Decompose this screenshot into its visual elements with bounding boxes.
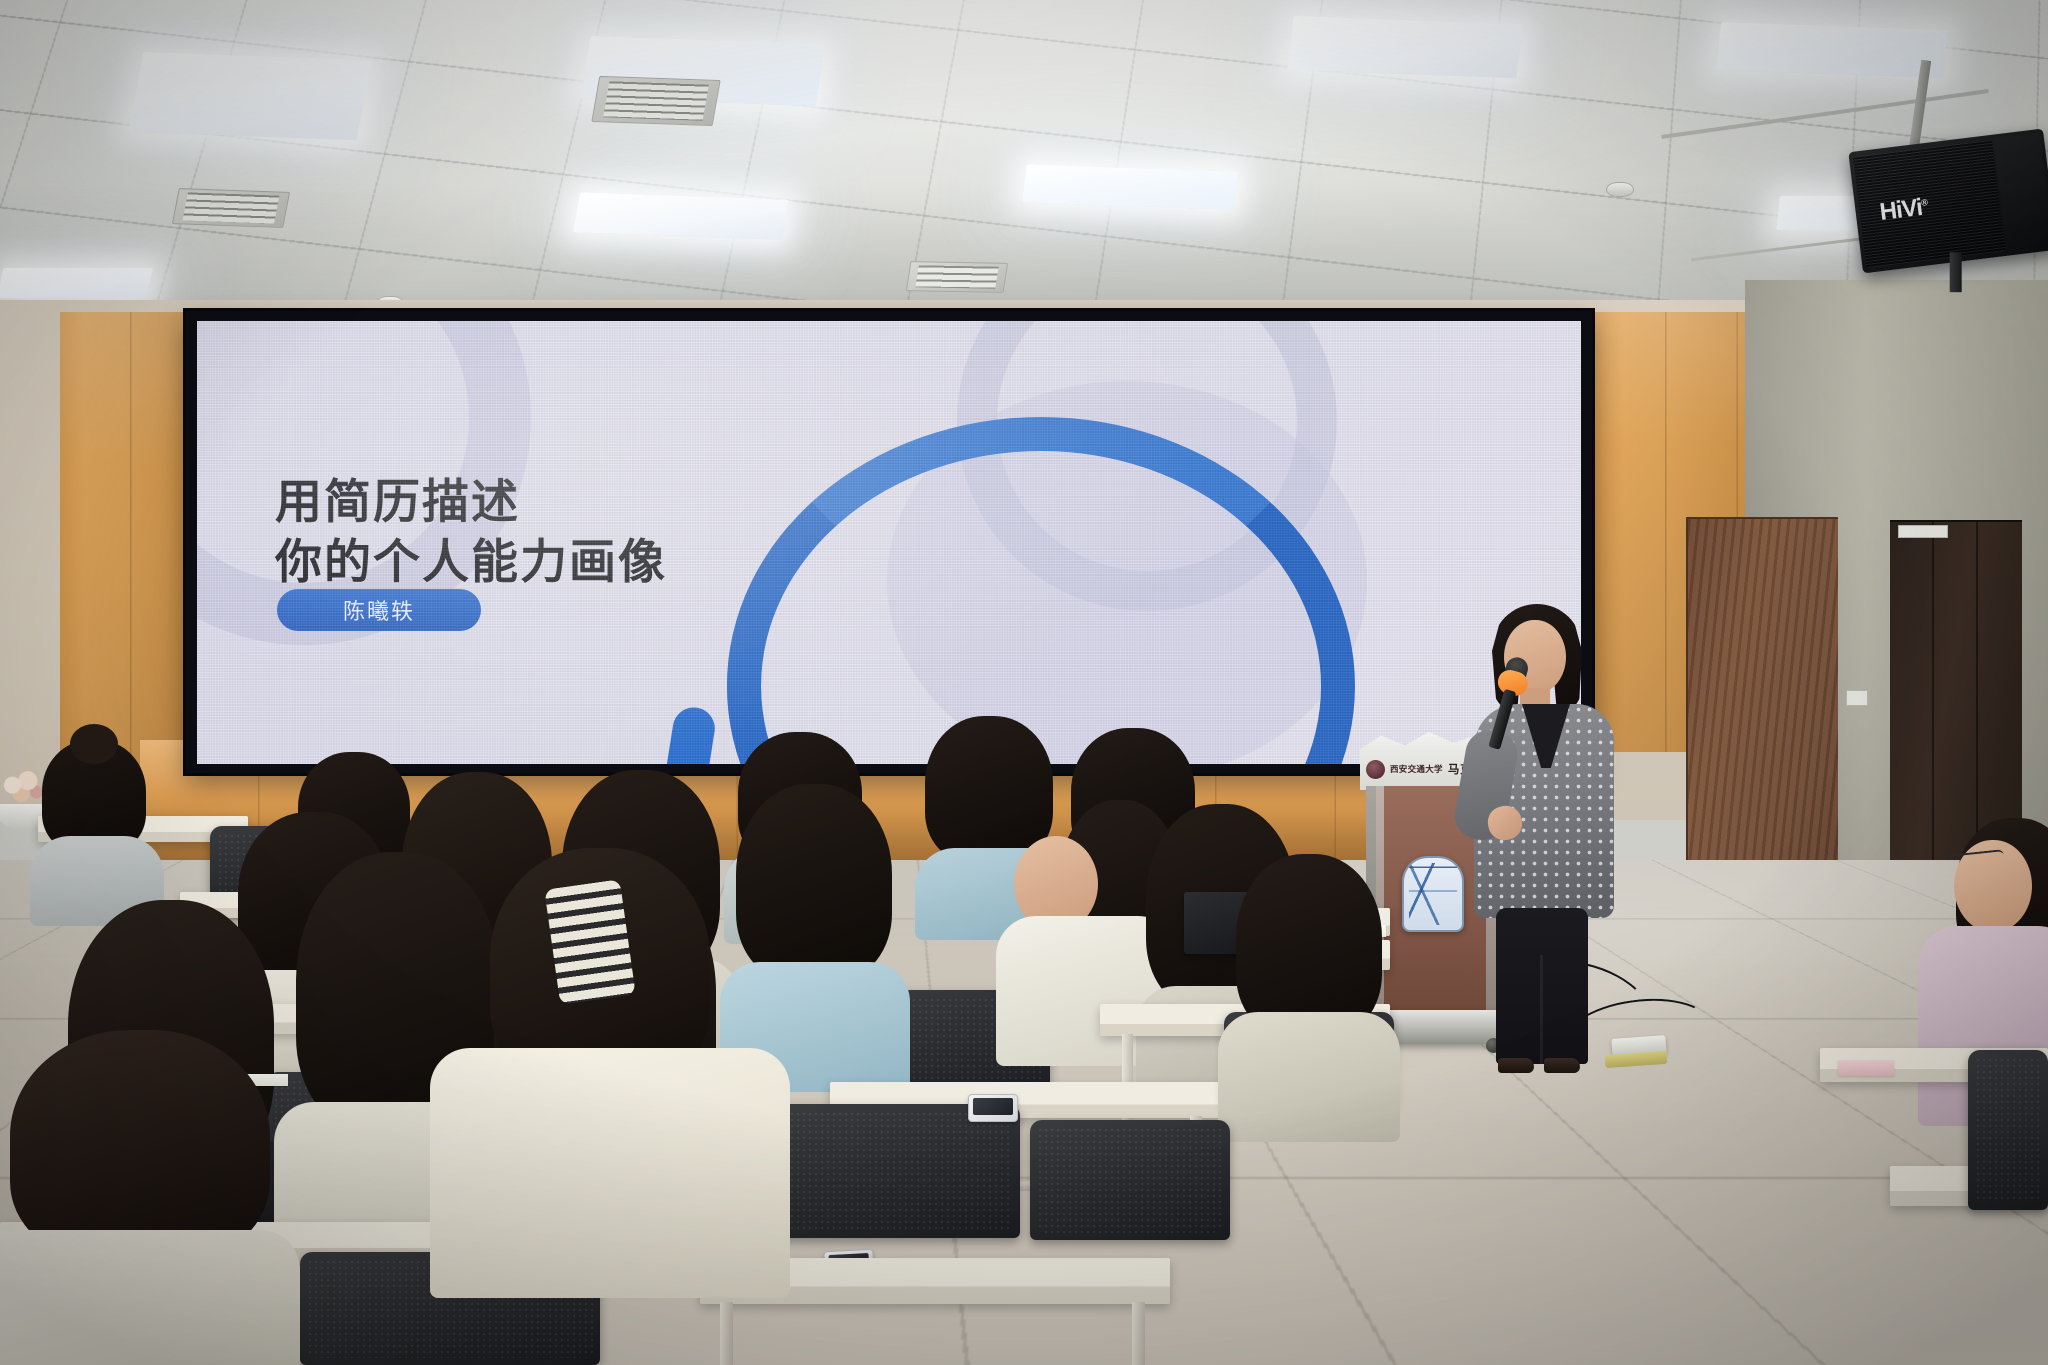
hivi-ceiling-speaker: HiVi® <box>1848 129 2048 274</box>
person-head <box>1954 840 2032 932</box>
presenter-shoe <box>1498 1058 1534 1073</box>
air-vent <box>906 261 1008 293</box>
person-top <box>1218 1012 1400 1142</box>
speaker-bracket <box>1950 252 1962 292</box>
led-panel-light <box>128 52 372 140</box>
audience-person <box>1216 854 1396 1054</box>
audience-person <box>30 740 160 870</box>
led-panel-light <box>0 268 153 298</box>
led-display-frame: 用简历描述 你的个人能力画像 陈曦轶 <box>186 311 1592 773</box>
lecture-hall-photo: 用简历描述 你的个人能力画像 陈曦轶 HiVi® <box>0 0 2048 1365</box>
blue-tick-graphic <box>658 704 718 764</box>
air-vent <box>591 76 720 126</box>
smoke-detector <box>1606 182 1634 197</box>
podium-university-label: 西安交通大学 <box>1390 763 1443 775</box>
table-leg <box>1132 1302 1145 1365</box>
person-hair <box>1236 854 1382 1036</box>
person-hair <box>10 1030 270 1260</box>
audience-chair[interactable] <box>1968 1050 2048 1210</box>
presenter-trousers <box>1496 908 1588 1064</box>
person-hair-bun <box>70 724 118 764</box>
smartphone[interactable] <box>968 1094 1018 1122</box>
audience-person <box>450 848 780 1288</box>
crest-emblem-marks <box>1409 863 1457 925</box>
audience-chair[interactable] <box>770 1104 1020 1238</box>
speaker-grille <box>1853 140 2006 268</box>
slide-title-line2: 你的个人能力画像 <box>275 533 667 593</box>
person-top <box>0 1230 300 1365</box>
table-leg <box>720 1302 733 1365</box>
slide-title-line1: 用简历描述 <box>275 473 667 533</box>
light-switch[interactable] <box>1846 690 1868 706</box>
person-top <box>430 1048 790 1298</box>
presenter-person <box>1452 610 1632 1070</box>
speaker-brand-label: HiVi® <box>1878 193 1929 227</box>
air-vent <box>172 188 290 228</box>
led-panel-light <box>1716 22 1948 78</box>
presenter-name-label: 陈曦轶 <box>343 594 415 626</box>
presentation-slide: 用简历描述 你的个人能力画像 陈曦轶 <box>197 321 1581 764</box>
led-panel-light <box>573 192 789 239</box>
university-logo-icon <box>1366 760 1385 779</box>
slide-title: 用简历描述 你的个人能力画像 <box>275 473 667 593</box>
presenter-shoe <box>1544 1058 1580 1073</box>
led-panel-light <box>1287 16 1523 78</box>
presenter-name-badge: 陈曦轶 <box>277 589 481 631</box>
audience-person <box>0 1030 300 1365</box>
door-sign <box>1898 525 1948 538</box>
led-panel-light <box>1022 164 1238 209</box>
handout-paper <box>1838 1060 1894 1076</box>
audience-chair[interactable] <box>1030 1120 1230 1240</box>
